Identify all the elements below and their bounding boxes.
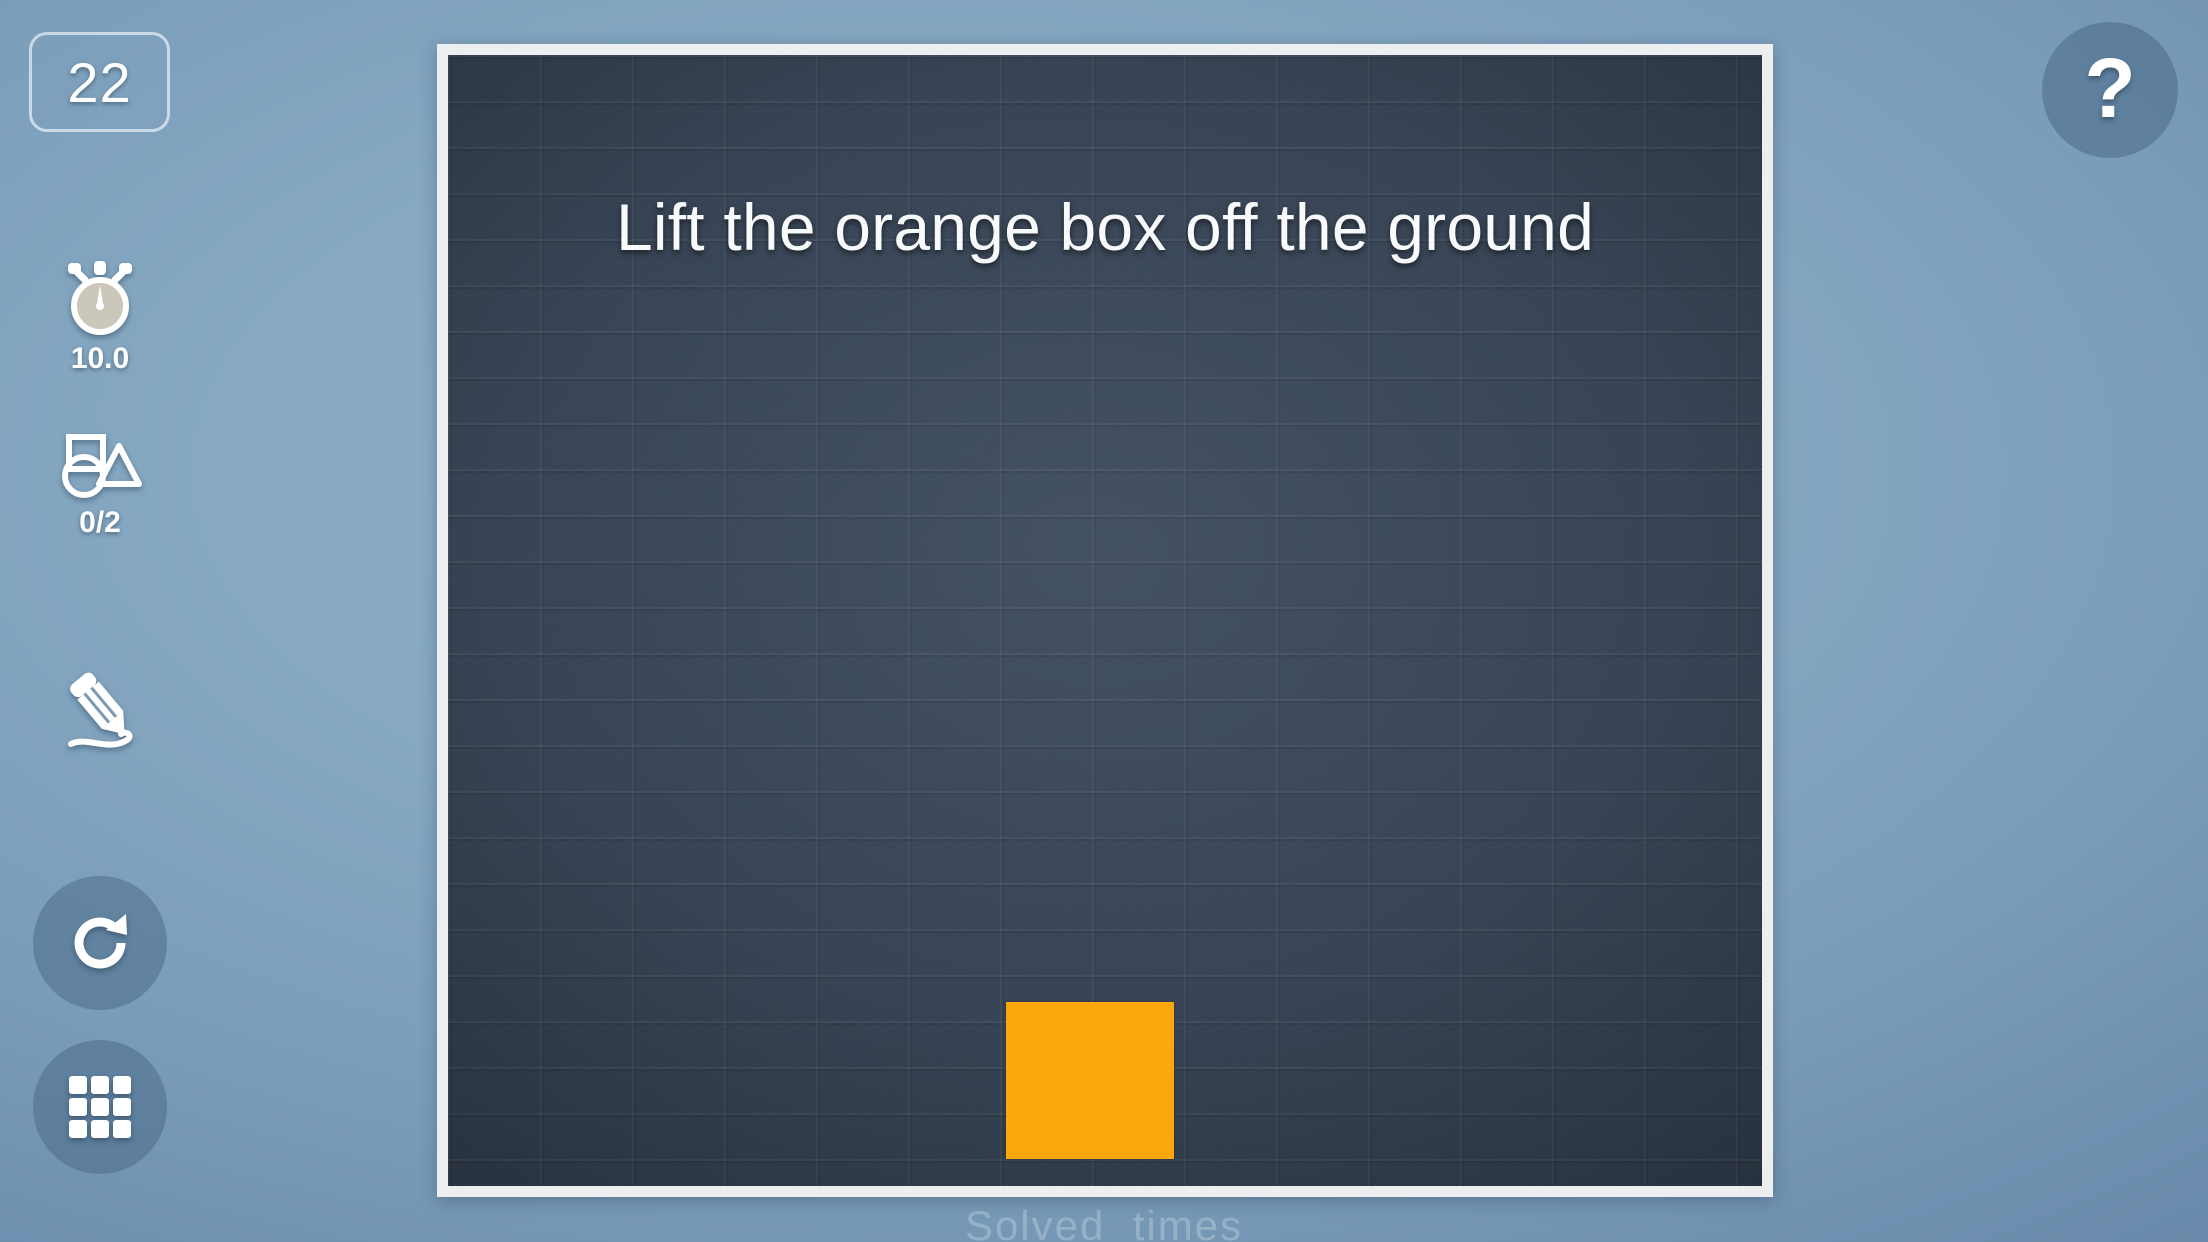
solved-count-label: Solved times xyxy=(0,1202,2208,1242)
levels-button[interactable] xyxy=(0,1040,200,1174)
help-button[interactable]: ? xyxy=(2042,22,2178,158)
question-mark-icon[interactable]: ? xyxy=(2084,46,2135,130)
level-number: 22 xyxy=(67,50,131,115)
goal-text: Lift the orange box off the ground xyxy=(448,192,1762,263)
pencil-draw-icon[interactable] xyxy=(57,668,143,754)
level-badge: 22 xyxy=(29,32,170,132)
stopwatch-icon xyxy=(57,258,143,338)
stat-shapes: 0/2 xyxy=(0,432,200,540)
hud-rail: 22 10.0 xyxy=(0,0,200,1242)
stat-timer: 10.0 xyxy=(0,258,200,376)
game-window: 22 10.0 xyxy=(0,0,2208,1242)
restart-button[interactable] xyxy=(0,876,200,1010)
orange-box[interactable] xyxy=(1006,1002,1174,1159)
grid-menu-icon[interactable] xyxy=(63,1070,137,1144)
stage-frame: Lift the orange box off the ground xyxy=(437,44,1773,1197)
shapes-icon xyxy=(57,432,143,502)
stat-timer-value: 10.0 xyxy=(71,342,129,376)
play-area[interactable]: Lift the orange box off the ground xyxy=(448,55,1762,1186)
refresh-icon[interactable] xyxy=(63,906,137,980)
stat-shapes-value: 0/2 xyxy=(79,506,121,540)
draw-button[interactable] xyxy=(0,668,200,754)
